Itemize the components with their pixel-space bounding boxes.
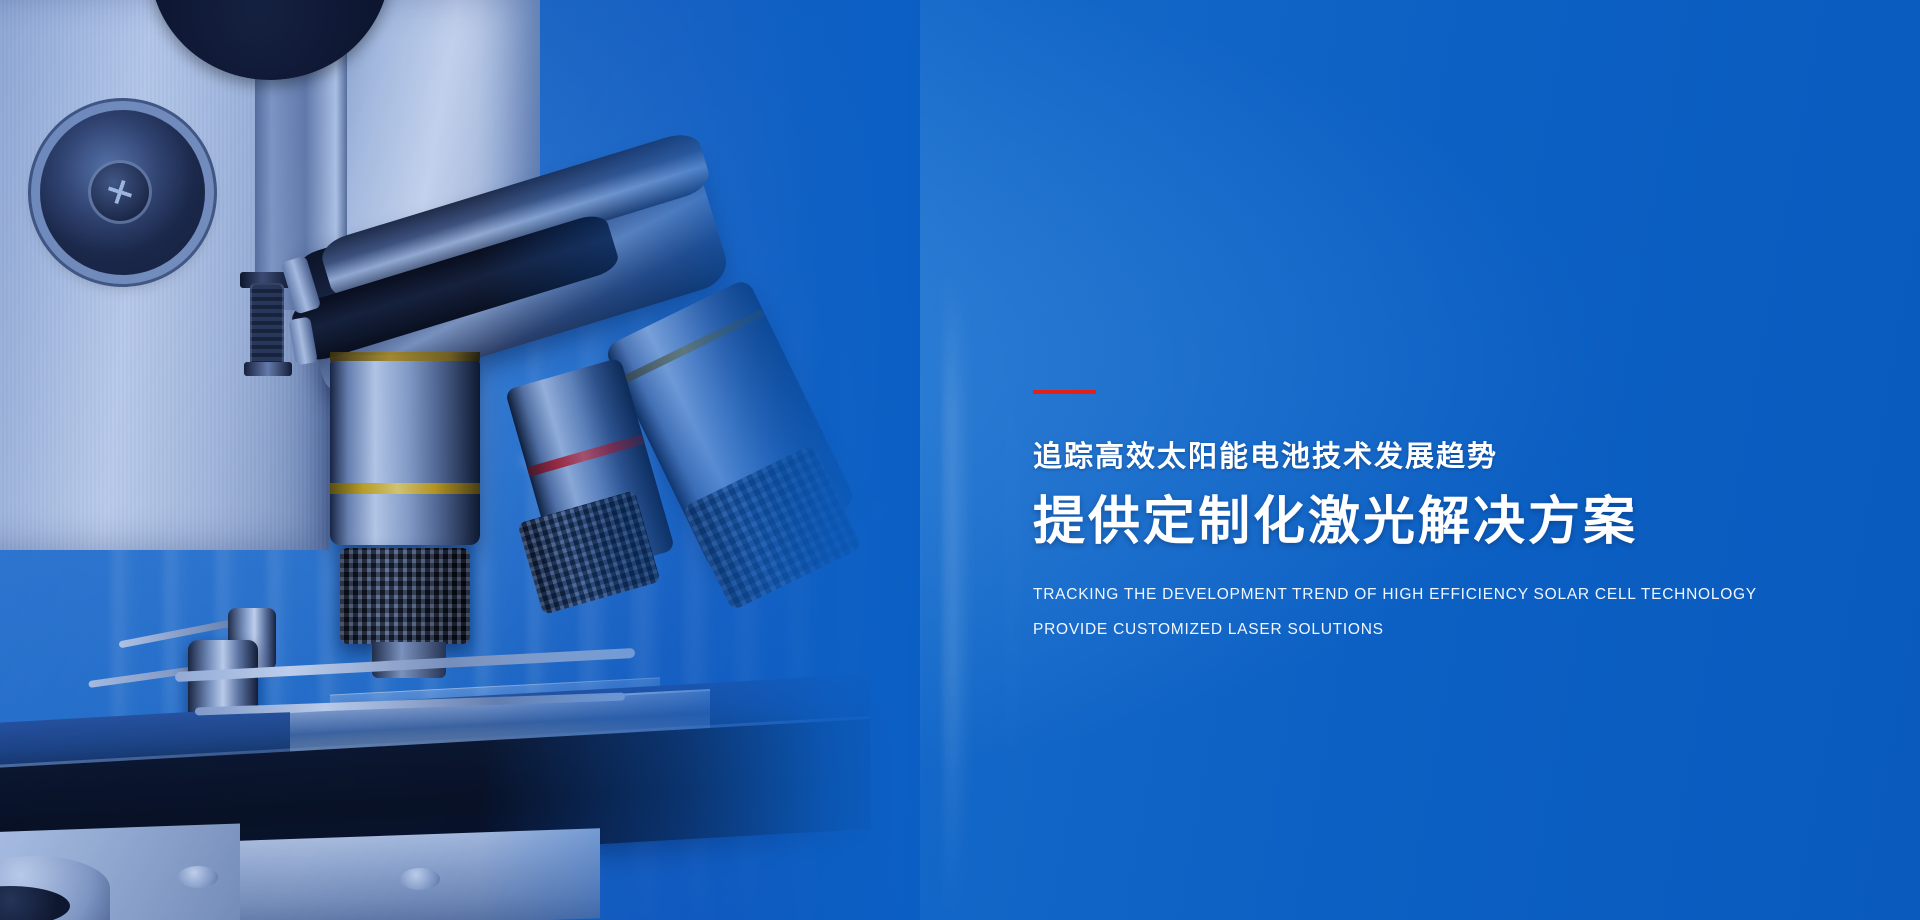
- hero-english-line-1: TRACKING THE DEVELOPMENT TREND OF HIGH E…: [1033, 587, 1853, 603]
- hero-title: 提供定制化激光解决方案: [1033, 493, 1853, 553]
- hero-english-line-2: PROVIDE CUSTOMIZED LASER SOLUTIONS: [1033, 622, 1853, 638]
- photo-right-edge-fade: [0, 0, 920, 920]
- hero-text-block: 追踪高效太阳能电池技术发展趋势 提供定制化激光解决方案 TRACKING THE…: [1033, 390, 1853, 638]
- hero-subtitle: 追踪高效太阳能电池技术发展趋势: [1033, 440, 1853, 475]
- microscope-photo: [0, 0, 920, 920]
- accent-rule: [1033, 390, 1096, 394]
- hero-banner: 追踪高效太阳能电池技术发展趋势 提供定制化激光解决方案 TRACKING THE…: [0, 0, 1920, 920]
